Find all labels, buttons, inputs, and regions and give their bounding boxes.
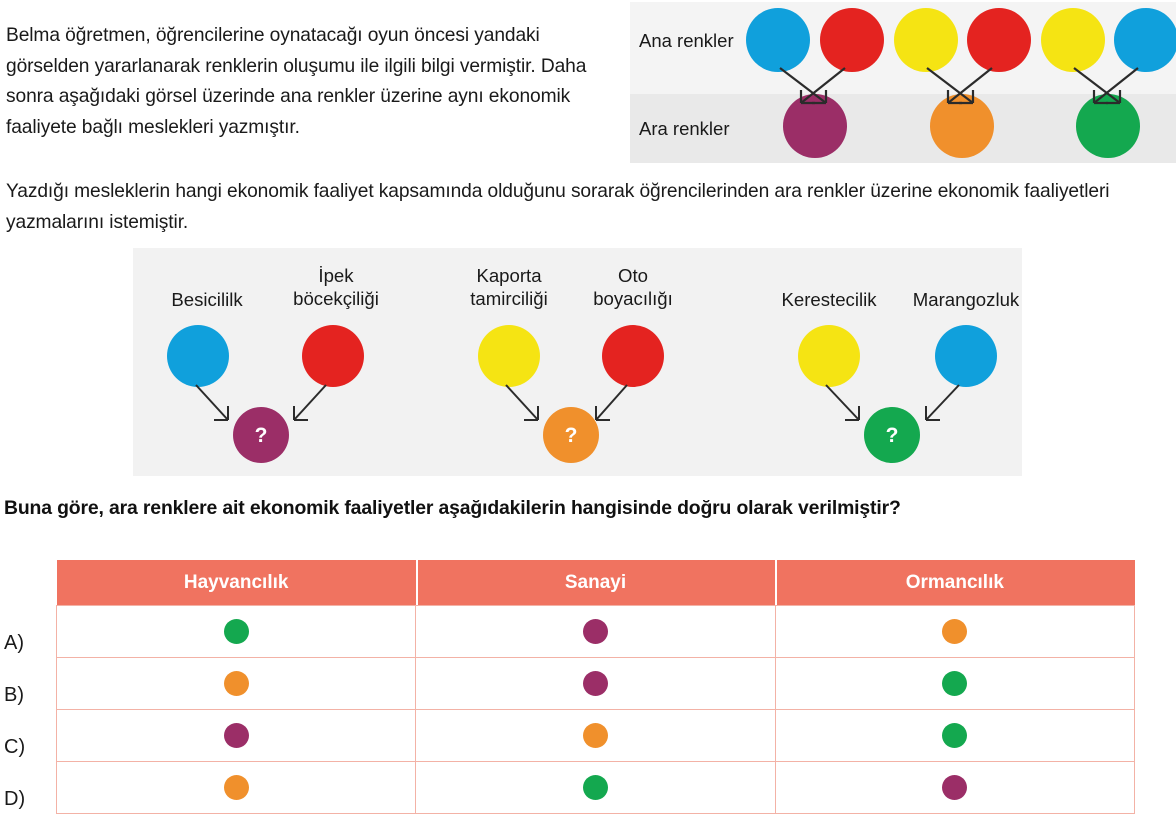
table-header-row: Hayvancılık Sanayi Ormancılık (57, 560, 1135, 606)
table-cell[interactable] (416, 606, 775, 658)
option-letter-a: A) (4, 632, 24, 655)
answer-dot-green (942, 723, 967, 748)
answer-dot-purple (583, 619, 608, 644)
table-cell[interactable] (416, 710, 775, 762)
answer-dot-orange (942, 619, 967, 644)
legend-arrows (630, 2, 1176, 163)
option-letter-b: B) (4, 684, 24, 707)
intro-paragraph-2: Yazdığı mesleklerin hangi ekonomik faali… (6, 177, 1172, 238)
question-text: Buna göre, ara renklere ait ekonomik faa… (4, 497, 1174, 520)
column-header-hayvancilik: Hayvancılık (57, 560, 416, 606)
table-cell[interactable] (57, 606, 416, 658)
answer-options-table: Hayvancılık Sanayi Ormancılık (56, 560, 1135, 814)
answer-dot-green (583, 775, 608, 800)
answer-dot-orange (583, 723, 608, 748)
answer-dot-orange (224, 671, 249, 696)
answer-dot-orange (224, 775, 249, 800)
answer-dot-green (224, 619, 249, 644)
color-mixing-legend: Ana renkler Ara renkler (630, 2, 1176, 163)
answer-dot-purple (942, 775, 967, 800)
option-letter-c: C) (4, 736, 25, 759)
table-row[interactable] (57, 762, 1135, 814)
table-row[interactable] (57, 658, 1135, 710)
table-cell[interactable] (57, 710, 416, 762)
table-cell[interactable] (775, 710, 1134, 762)
professions-diagram: Besicililk İpek böcekçiliği ? Kaporta ta… (133, 248, 1022, 476)
table-cell[interactable] (775, 606, 1134, 658)
intro-section: Belma öğretmen, öğrencilerine oynatacağı… (0, 0, 1176, 168)
option-letter-d: D) (4, 788, 25, 811)
table-cell[interactable] (416, 658, 775, 710)
answer-dot-green (942, 671, 967, 696)
column-header-sanayi: Sanayi (416, 560, 775, 606)
professions-arrows (133, 248, 1022, 476)
answer-dot-purple (224, 723, 249, 748)
table-cell[interactable] (775, 762, 1134, 814)
intro-paragraph-1: Belma öğretmen, öğrencilerine oynatacağı… (6, 21, 612, 143)
table-row[interactable] (57, 606, 1135, 658)
table-cell[interactable] (775, 658, 1134, 710)
answer-dot-purple (583, 671, 608, 696)
table-row[interactable] (57, 710, 1135, 762)
table-cell[interactable] (57, 762, 416, 814)
table-cell[interactable] (416, 762, 775, 814)
table-cell[interactable] (57, 658, 416, 710)
column-header-ormancilik: Ormancılık (775, 560, 1134, 606)
